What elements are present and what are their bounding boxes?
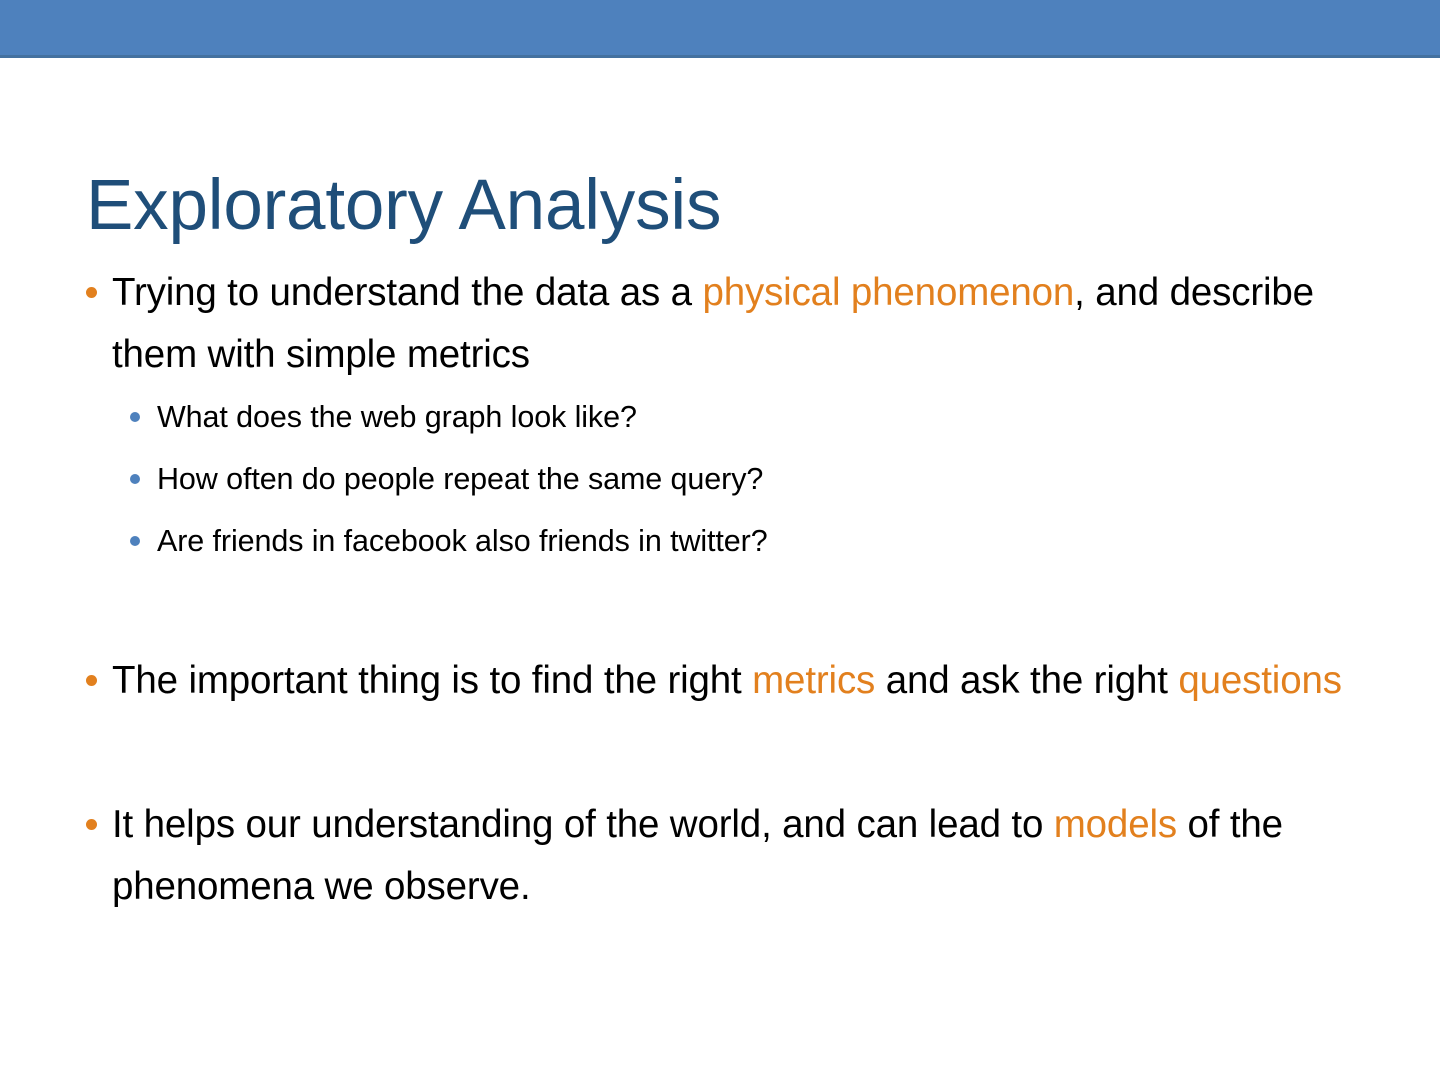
bullet-item-3: It helps our understanding of the world,…: [82, 794, 1372, 918]
slide-body: Trying to understand the data as a physi…: [82, 262, 1372, 918]
bullet-1-text-part1: Trying to understand the data as a: [112, 271, 702, 314]
header-decoration-band-edge: [0, 55, 1440, 58]
page-title: Exploratory Analysis: [86, 170, 1356, 241]
sub-bullet-item-3: Are friends in facebook also friends in …: [82, 510, 1372, 572]
sub-bullet-item-1: What does the web graph look like?: [82, 386, 1372, 448]
sub-bullet-dot-icon: [130, 474, 140, 484]
bullet-3-text-part1: It helps our understanding of the world,…: [112, 803, 1054, 846]
bullet-3-highlight-models: models: [1054, 803, 1177, 846]
spacer: [82, 572, 1372, 650]
bullet-item-2: The important thing is to find the right…: [82, 650, 1372, 712]
sub-bullet-dot-icon: [130, 412, 140, 422]
sub-bullet-2-label: How often do people repeat the same quer…: [157, 462, 763, 496]
sub-bullet-list-1: What does the web graph look like? How o…: [82, 386, 1372, 572]
sub-bullet-1-label: What does the web graph look like?: [157, 400, 637, 434]
spacer: [82, 712, 1372, 794]
bullet-2-text-part1: The important thing is to find the right: [112, 659, 752, 702]
sub-bullet-item-2: How often do people repeat the same quer…: [82, 448, 1372, 510]
bullet-2-highlight-questions: questions: [1178, 659, 1341, 702]
bullet-2-text-part2: and ask the right: [875, 659, 1178, 702]
bullet-dot-icon: [86, 819, 97, 830]
slide-canvas: Exploratory Analysis Trying to understan…: [0, 0, 1440, 1080]
bullet-item-1: Trying to understand the data as a physi…: [82, 262, 1372, 386]
header-decoration-band: [0, 0, 1440, 55]
bullet-1-highlight-physical-phenomenon: physical phenomenon: [702, 271, 1074, 314]
bullet-dot-icon: [86, 675, 97, 686]
sub-bullet-dot-icon: [130, 536, 140, 546]
sub-bullet-3-label: Are friends in facebook also friends in …: [157, 524, 768, 558]
bullet-2-highlight-metrics: metrics: [752, 659, 875, 702]
bullet-dot-icon: [86, 287, 97, 298]
